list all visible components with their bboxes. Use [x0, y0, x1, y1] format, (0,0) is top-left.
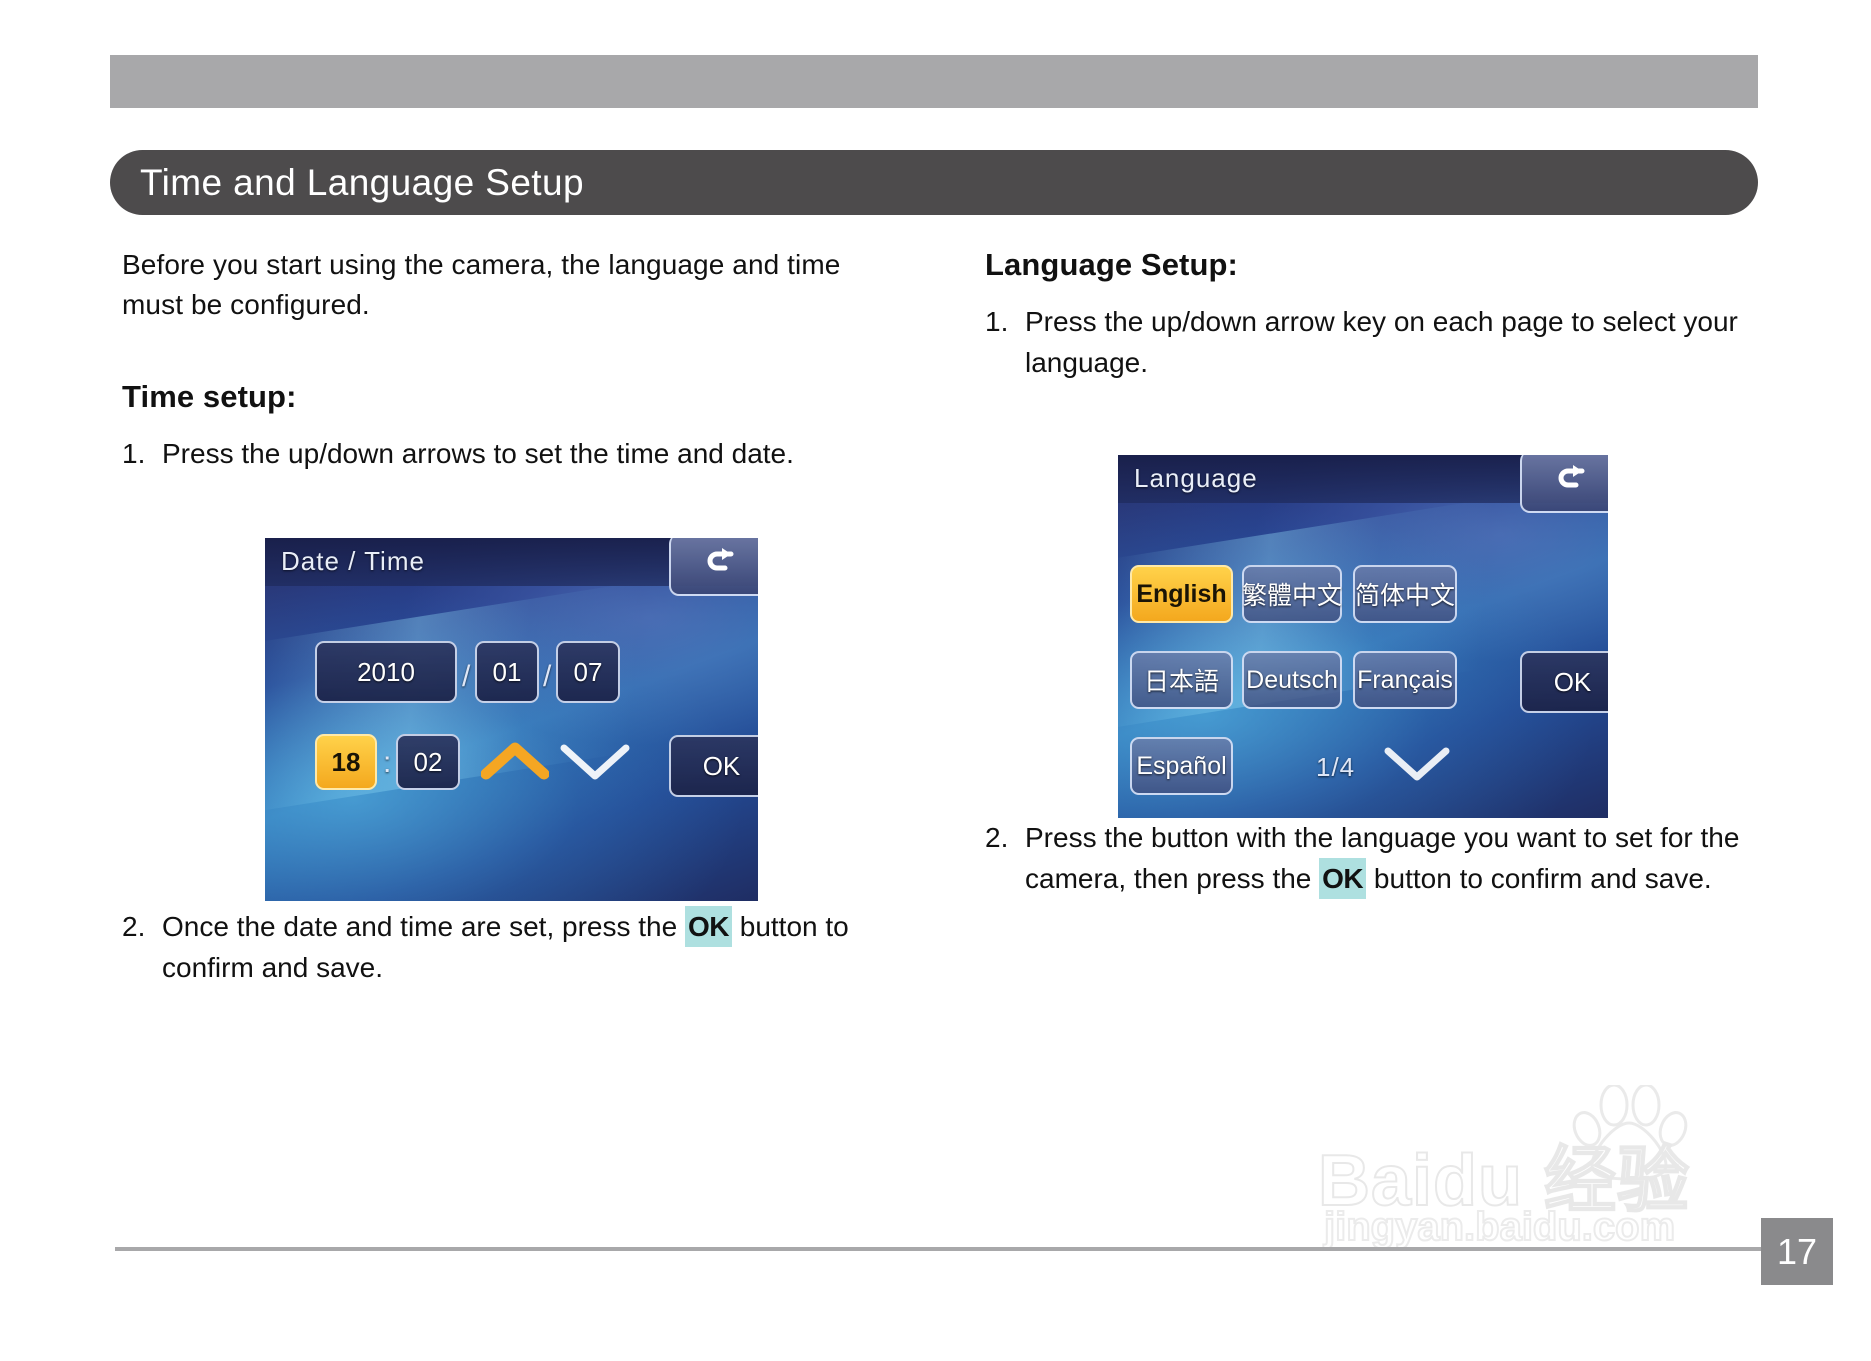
page-number: 17 [1777, 1231, 1817, 1273]
footer-rule [115, 1247, 1763, 1251]
language-step-2-text-after: button to confirm and save. [1366, 863, 1712, 894]
language-step-1: 1. Press the up/down arrow key on each p… [985, 301, 1765, 383]
back-arrow-icon [705, 546, 739, 583]
right-column: Language Setup: 1. Press the up/down arr… [985, 245, 1765, 903]
language-option-label: 繁體中文 [1242, 576, 1342, 612]
language-step-2-text: Press the button with the language you w… [1025, 817, 1765, 899]
ok-button[interactable]: OK [1520, 651, 1608, 713]
language-option-label: English [1136, 580, 1226, 609]
manual-page: Time and Language Setup Before you start… [0, 0, 1871, 1361]
language-option-japanese[interactable]: 日本語 [1130, 651, 1233, 709]
watermark-main-text: Baidu 经验 [1318, 1121, 1690, 1226]
language-option-label: 简体中文 [1355, 576, 1455, 612]
up-arrow-button[interactable] [481, 738, 549, 789]
day-value: 07 [574, 657, 603, 688]
back-button[interactable] [669, 538, 758, 596]
intro-paragraph: Before you start using the camera, the l… [122, 245, 882, 325]
ok-inline-badge: OK [685, 906, 732, 947]
day-field[interactable]: 07 [556, 641, 620, 703]
chevron-up-icon [481, 771, 549, 788]
minute-field[interactable]: 02 [396, 734, 460, 790]
language-option-traditional-chinese[interactable]: 繁體中文 [1242, 565, 1342, 623]
page-number-badge: 17 [1761, 1218, 1833, 1285]
down-arrow-button[interactable] [559, 738, 631, 791]
time-separator: : [383, 746, 391, 780]
header-accent-bar [110, 55, 1758, 108]
time-step-2: 2. Once the date and time are set, press… [122, 906, 882, 988]
paw-icon [1570, 1085, 1688, 1186]
back-arrow-icon [1556, 463, 1590, 500]
left-column: Before you start using the camera, the l… [122, 245, 882, 992]
date-separator-2: / [543, 660, 551, 694]
chevron-down-icon [1383, 774, 1451, 791]
date-time-screen-title: Date / Time [281, 546, 425, 577]
time-step-1: 1. Press the up/down arrows to set the t… [122, 433, 882, 474]
hour-value: 18 [332, 747, 361, 778]
time-step-2-text: Once the date and time are set, press th… [162, 906, 882, 988]
language-setup-heading: Language Setup: [985, 245, 1765, 285]
language-step-1-number: 1. [985, 301, 1025, 383]
language-screen: Language English 繁體中文 简体中文 [1118, 455, 1608, 818]
language-screen-title: Language [1134, 463, 1258, 494]
time-step-2-text-before: Once the date and time are set, press th… [162, 911, 685, 942]
time-step-1-text: Press the up/down arrows to set the time… [162, 433, 882, 474]
language-option-spanish[interactable]: Español [1130, 737, 1233, 795]
ok-button[interactable]: OK [669, 735, 758, 797]
ok-inline-badge: OK [1319, 858, 1366, 899]
time-step-2-number: 2. [122, 906, 162, 988]
language-option-english[interactable]: English [1130, 565, 1233, 623]
language-option-label: Français [1357, 666, 1453, 695]
language-option-label: 日本語 [1144, 662, 1219, 698]
year-value: 2010 [357, 657, 415, 688]
language-option-french[interactable]: Français [1353, 651, 1457, 709]
language-option-german[interactable]: Deutsch [1242, 651, 1342, 709]
language-step-2: 2. Press the button with the language yo… [985, 817, 1765, 899]
date-time-screen: Date / Time 2010 / 01 / [265, 538, 758, 901]
language-step-1-text: Press the up/down arrow key on each page… [1025, 301, 1765, 383]
hour-field[interactable]: 18 [315, 734, 377, 790]
date-separator-1: / [462, 660, 470, 694]
language-option-label: Deutsch [1246, 666, 1338, 695]
page-title-bar: Time and Language Setup [110, 150, 1758, 215]
watermark-sub-text: jingyan.baidu.com [1324, 1205, 1675, 1250]
chevron-down-icon [559, 773, 631, 790]
minute-value: 02 [414, 747, 443, 778]
baidu-watermark: Baidu 经验 jingyan.baidu.com [1318, 1093, 1748, 1263]
page-indicator: 1/4 [1316, 752, 1355, 783]
language-option-simplified-chinese[interactable]: 简体中文 [1353, 565, 1457, 623]
month-field[interactable]: 01 [475, 641, 539, 703]
ok-button-label: OK [703, 751, 741, 782]
time-setup-heading: Time setup: [122, 377, 882, 417]
page-title: Time and Language Setup [110, 162, 584, 204]
back-button[interactable] [1520, 455, 1608, 513]
language-step-2-number: 2. [985, 817, 1025, 899]
month-value: 01 [493, 657, 522, 688]
year-field[interactable]: 2010 [315, 641, 457, 703]
language-down-arrow-button[interactable] [1383, 741, 1451, 792]
ok-button-label: OK [1554, 667, 1592, 698]
time-step-1-number: 1. [122, 433, 162, 474]
language-option-label: Español [1136, 752, 1226, 781]
